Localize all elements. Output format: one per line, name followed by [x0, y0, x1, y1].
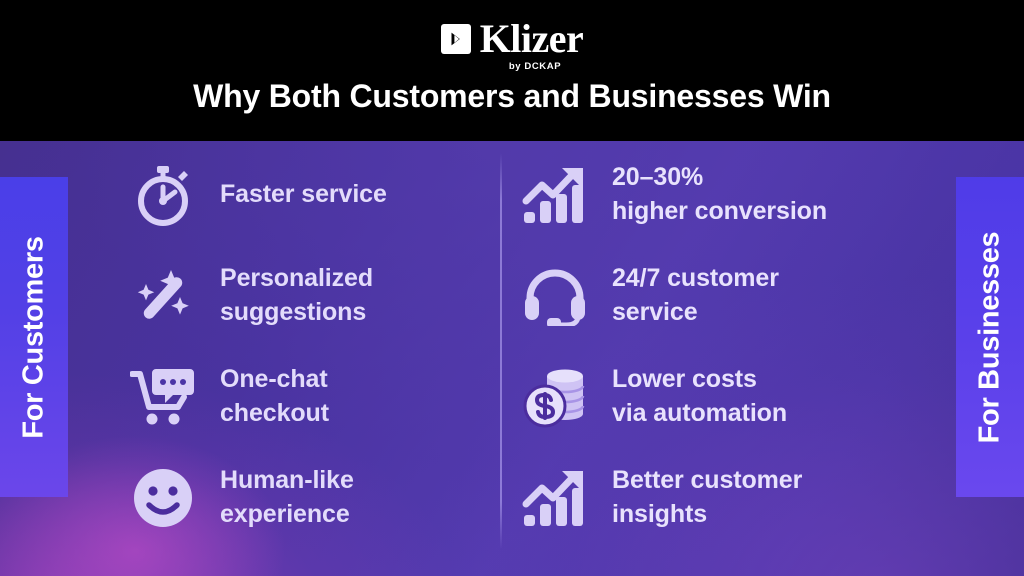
list-item-label: Human-like experience	[220, 464, 354, 531]
list-item: One-chat checkout	[128, 355, 548, 438]
stopwatch-icon	[128, 160, 198, 230]
list-item: Human-like experience	[128, 456, 548, 539]
list-item: Lower costs via automation	[520, 355, 940, 438]
headset-icon	[520, 261, 590, 331]
smiley-face-icon	[128, 463, 198, 533]
brand-logo: Klizer by DCKAP	[0, 19, 1024, 72]
cart-chat-icon	[128, 362, 198, 432]
list-item-label: One-chat checkout	[220, 363, 329, 430]
band-right-label: For Businesses	[974, 231, 1007, 443]
list-item-label: Faster service	[220, 178, 387, 211]
column-divider	[500, 153, 502, 549]
band-for-customers: For Customers	[0, 177, 68, 497]
coin-stack-icon	[520, 362, 590, 432]
band-left-label: For Customers	[18, 236, 51, 438]
list-item: 24/7 customer service	[520, 254, 940, 337]
list-item-label: Lower costs via automation	[612, 363, 787, 430]
list-item: 20–30% higher conversion	[520, 153, 940, 236]
band-for-businesses: For Businesses	[956, 177, 1024, 497]
businesses-benefit-list: 20–30% higher conversion 24/7 customer s…	[520, 153, 940, 563]
logo-wordmark: Klizer	[480, 19, 584, 59]
list-item: Faster service	[128, 153, 548, 236]
list-item-label: Personalized suggestions	[220, 262, 373, 329]
logo-tagline: by DCKAP	[509, 61, 561, 72]
infographic-slide: Klizer by DCKAP Why Both Customers and B…	[0, 0, 1024, 576]
list-item-label: 20–30% higher conversion	[612, 161, 827, 228]
header-bar: Klizer by DCKAP Why Both Customers and B…	[0, 0, 1024, 141]
chevron-mark-icon	[441, 24, 471, 54]
growth-chart-icon	[520, 463, 590, 533]
list-item: Personalized suggestions	[128, 254, 548, 337]
page-title: Why Both Customers and Businesses Win	[0, 78, 1024, 115]
list-item: Better customer insights	[520, 456, 940, 539]
magic-wand-icon	[128, 261, 198, 331]
list-item-label: Better customer insights	[612, 464, 802, 531]
content-stage: For Customers For Businesses	[0, 141, 1024, 576]
customers-benefit-list: Faster service Personalized suggestions	[128, 153, 548, 563]
list-item-label: 24/7 customer service	[612, 262, 779, 329]
growth-chart-icon	[520, 160, 590, 230]
